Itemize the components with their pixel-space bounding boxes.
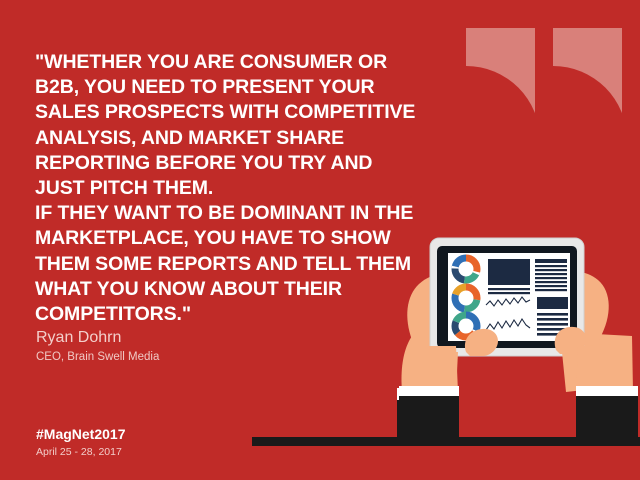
right-sleeve-front (576, 396, 638, 438)
text-lines-top-right (535, 259, 567, 291)
quote-line: WHAT YOU KNOW ABOUT THEIR (35, 277, 435, 302)
quote-slide: "WHETHER YOU ARE CONSUMER OR B2B, YOU NE… (0, 0, 640, 480)
text-line (535, 285, 567, 287)
quote-line: ANALYSIS, AND MARKET SHARE (35, 126, 435, 151)
right-forearm (583, 334, 633, 392)
text-line (537, 333, 568, 336)
donut-chart-1 (455, 258, 477, 280)
tablet-bezel-outline (430, 238, 584, 356)
text-line (488, 288, 530, 290)
quote-line: "WHETHER YOU ARE CONSUMER OR (35, 50, 435, 75)
text-line (535, 273, 567, 275)
quote-line: REPORTING BEFORE YOU TRY AND (35, 151, 435, 176)
text-line (537, 328, 568, 331)
sparkline-chart-2 (486, 319, 530, 330)
quote-mark-glyph-right (553, 28, 622, 140)
quote-line: SALES PROSPECTS WITH COMPETITIVE (35, 100, 435, 125)
table-edge-front (252, 437, 640, 446)
tablet-frame (437, 246, 577, 348)
image-block-middle-right (537, 297, 568, 309)
text-line (535, 289, 567, 291)
left-arm-fill (403, 346, 458, 392)
quote-line: THEM SOME REPORTS AND TELL THEM (35, 252, 435, 277)
event-date: April 25 - 28, 2017 (36, 445, 126, 460)
text-line (537, 318, 568, 321)
image-block-top-left (488, 259, 530, 285)
event-hashtag: #MagNet2017 (36, 425, 126, 443)
tablet-bezel (430, 238, 584, 356)
quote-line: MARKETPLACE, YOU HAVE TO SHOW (35, 226, 435, 251)
text-line (535, 269, 567, 271)
right-arm-fill (576, 344, 632, 392)
donut-chart-2 (455, 287, 477, 309)
right-cuff-front (576, 386, 638, 398)
donut-chart-3 (455, 315, 477, 337)
quote-line: B2B, YOU NEED TO PRESENT YOUR (35, 75, 435, 100)
quote-line: COMPETITORS." (35, 302, 435, 327)
event-footer: #MagNet2017 April 25 - 28, 2017 (36, 425, 126, 460)
left-palm-lower (422, 352, 458, 392)
tablet-screen-content (455, 258, 568, 337)
right-cuff (578, 388, 636, 400)
quote-mark-decoration (466, 28, 622, 140)
quote-line: JUST PITCH THEM. (35, 176, 435, 201)
right-palm-lower (562, 352, 593, 392)
right-thumb (555, 327, 586, 354)
right-hand (546, 272, 609, 352)
speaker-role: CEO, Brain Swell Media (36, 349, 159, 365)
sparkline-chart-1 (486, 297, 530, 306)
speaker-name: Ryan Dohrn (36, 328, 159, 348)
left-thumb (465, 329, 498, 356)
left-forearm (401, 336, 452, 392)
text-line (488, 292, 530, 294)
text-line (535, 259, 567, 263)
text-line (535, 265, 567, 267)
left-cuff-front (399, 386, 459, 398)
text-line (535, 277, 567, 279)
left-sleeve (397, 398, 455, 438)
text-line (537, 313, 568, 316)
left-sleeve-front (399, 396, 459, 438)
quote-line: IF THEY WANT TO BE DOMINANT IN THE (35, 201, 435, 226)
text-line (535, 281, 567, 283)
left-cuff (397, 388, 455, 400)
right-sleeve (578, 398, 636, 438)
quote-text: "WHETHER YOU ARE CONSUMER OR B2B, YOU NE… (35, 50, 435, 327)
quote-mark-glyph-left (466, 28, 535, 140)
tablet-screen (448, 253, 570, 341)
text-line (537, 323, 568, 326)
attribution: Ryan Dohrn CEO, Brain Swell Media (36, 328, 159, 365)
text-lines-bottom-right (537, 313, 568, 336)
table-edge (252, 437, 640, 446)
